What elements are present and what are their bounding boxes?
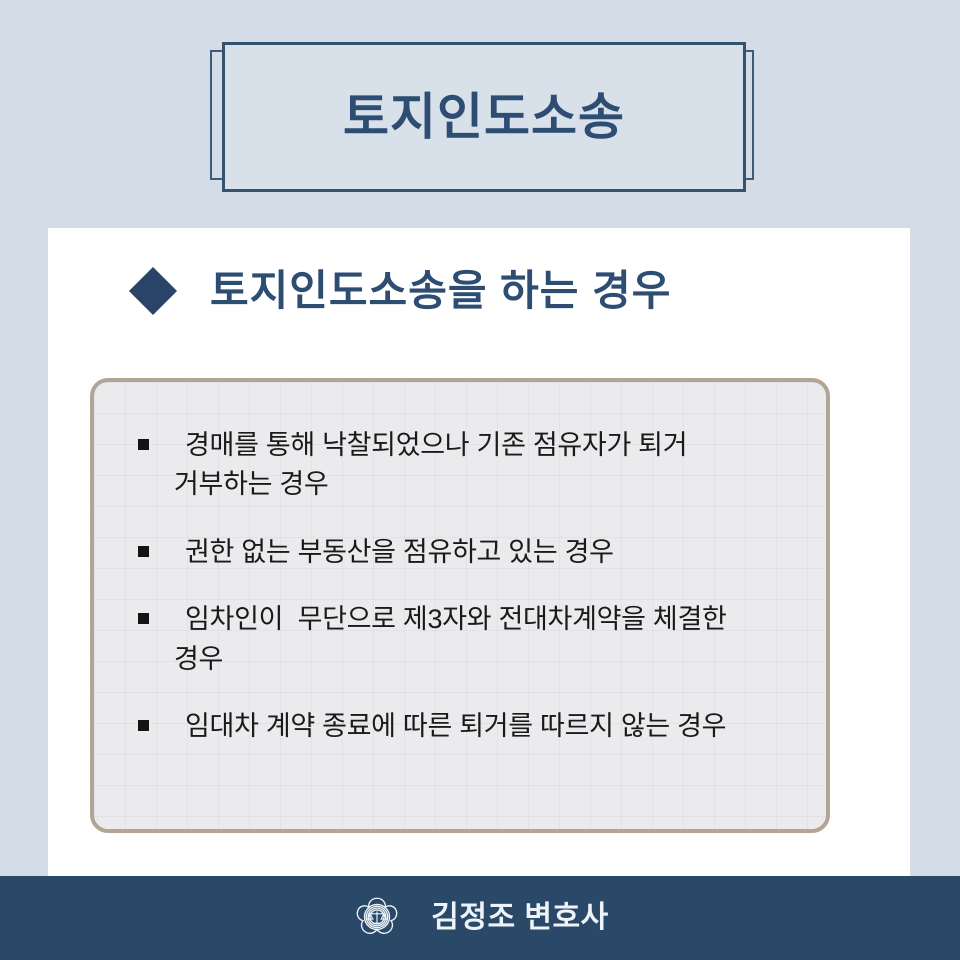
square-bullet-icon [138, 546, 149, 557]
square-bullet-icon [138, 720, 149, 731]
list-item-text: 경매를 통해 낙찰되었으나 기존 점유자가 퇴거거부하는 경우 [185, 426, 687, 505]
title-banner-inner-frame: 토지인도소송 [222, 42, 746, 192]
footer-bar: 김정조 변호사 [0, 876, 960, 960]
list-item-text: 임차인이 무단으로 제3자와 전대차계약을 체결한경우 [185, 600, 727, 679]
case-list-box: 경매를 통해 낙찰되었으나 기존 점유자가 퇴거거부하는 경우 권한 없는 부동… [90, 378, 830, 833]
list-item: 경매를 통해 낙찰되었으나 기존 점유자가 퇴거거부하는 경우 [138, 426, 804, 505]
section-heading-label: 토지인도소송을 하는 경우 [210, 270, 671, 312]
list-item-line2: 경우 [174, 640, 727, 679]
content-card: 토지인도소송을 하는 경우 경매를 통해 낙찰되었으나 기존 점유자가 퇴거거부… [48, 228, 910, 876]
korean-bar-association-emblem-icon [351, 892, 403, 944]
list-item: 임차인이 무단으로 제3자와 전대차계약을 체결한경우 [138, 600, 804, 679]
section-heading: 토지인도소송을 하는 경우 [136, 270, 671, 312]
footer-lawyer-name: 김정조 변호사 [431, 903, 608, 933]
list-item-line1: 권한 없는 부동산을 점유하고 있는 경우 [185, 537, 614, 567]
list-item: 임대차 계약 종료에 따른 퇴거를 따르지 않는 경우 [138, 707, 804, 746]
list-item: 권한 없는 부동산을 점유하고 있는 경우 [138, 533, 804, 572]
diamond-bullet-icon [129, 267, 177, 315]
list-item-line1: 경매를 통해 낙찰되었으나 기존 점유자가 퇴거 [185, 430, 687, 460]
square-bullet-icon [138, 439, 149, 450]
list-item-line1: 임차인이 무단으로 제3자와 전대차계약을 체결한 [185, 604, 727, 634]
square-bullet-icon [138, 613, 149, 624]
list-item-line1: 임대차 계약 종료에 따른 퇴거를 따르지 않는 경우 [185, 711, 726, 741]
page-title: 토지인도소송 [343, 92, 625, 142]
list-item-text: 권한 없는 부동산을 점유하고 있는 경우 [185, 533, 614, 572]
title-banner-outer-frame: 토지인도소송 [210, 50, 754, 180]
list-item-text: 임대차 계약 종료에 따른 퇴거를 따르지 않는 경우 [185, 707, 726, 746]
list-item-line2: 거부하는 경우 [174, 465, 687, 504]
